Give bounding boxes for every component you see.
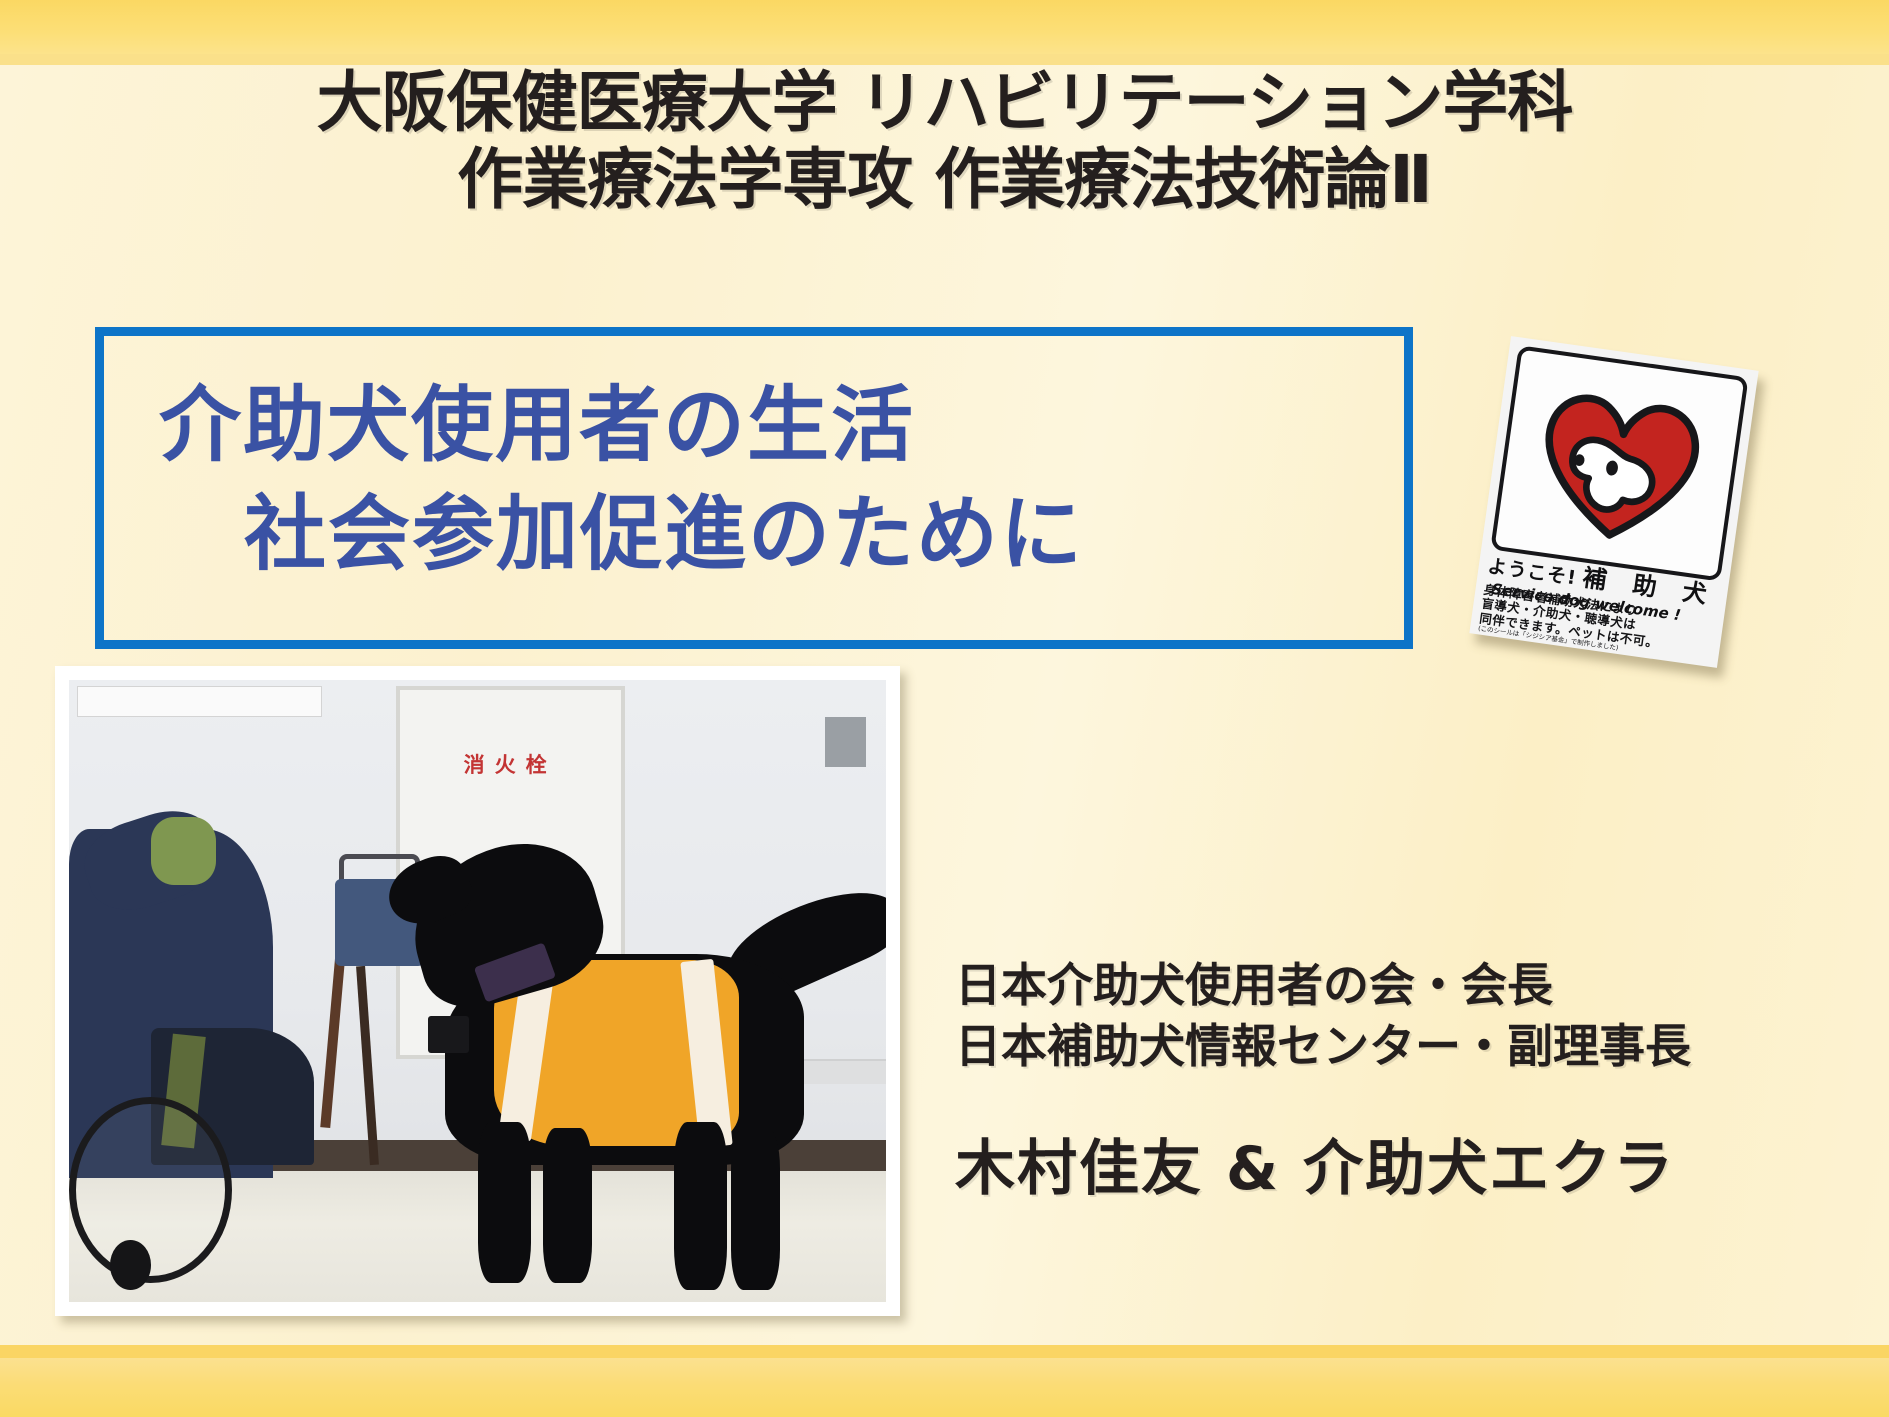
fire-hydrant-label: 消火栓 bbox=[400, 749, 621, 779]
header-line-2: 作業療法学専攻 作業療法技術論Ⅱ bbox=[0, 141, 1889, 218]
presenter-name: 木村佳友 & 介助犬エクラ bbox=[955, 1120, 1855, 1207]
photo-whiteboard bbox=[77, 686, 322, 717]
service-dog-welcome-sticker: ようこそ! 補 助 犬 Service dog welcome ! 身体障害者補… bbox=[1469, 336, 1758, 668]
photo-dog-leg-1 bbox=[478, 1122, 531, 1284]
photo-leash-clip bbox=[428, 1016, 469, 1053]
presenter-credits: 日本介助犬使用者の会・会長 日本補助犬情報センター・副理事長 木村佳友 & 介助… bbox=[955, 955, 1855, 1207]
top-decorative-band bbox=[0, 0, 1889, 54]
slide: 大阪保健医療大学 リハビリテーション学科 作業療法学専攻 作業療法技術論Ⅱ 介助… bbox=[0, 0, 1889, 1417]
service-dog-photo: 消火栓 bbox=[55, 666, 900, 1316]
photo-dog-leg-2 bbox=[543, 1128, 592, 1284]
main-title-line-2: 社会参加促進のために bbox=[244, 483, 1404, 588]
photo-wheelchair-castor bbox=[110, 1240, 151, 1290]
slide-header: 大阪保健医療大学 リハビリテーション学科 作業療法学専攻 作業療法技術論Ⅱ bbox=[0, 64, 1889, 218]
photo-user-hand bbox=[151, 817, 216, 885]
photo-content: 消火栓 bbox=[69, 680, 886, 1302]
credit-org-line-1: 日本介助犬使用者の会・会長 bbox=[955, 955, 1855, 1016]
main-title-box: 介助犬使用者の生活 社会参加促進のために bbox=[95, 327, 1413, 649]
credit-org-line-2: 日本補助犬情報センター・副理事長 bbox=[955, 1016, 1855, 1077]
bottom-decorative-band bbox=[0, 1358, 1889, 1417]
photo-dog-leg-3 bbox=[674, 1122, 727, 1290]
heart-dog-icon bbox=[1525, 381, 1712, 553]
header-line-1: 大阪保健医療大学 リハビリテーション学科 bbox=[0, 64, 1889, 141]
photo-dog-leg-4 bbox=[731, 1128, 780, 1290]
photo-wall-switch bbox=[825, 717, 866, 767]
main-title-line-1: 介助犬使用者の生活 bbox=[159, 374, 1404, 479]
photo-wheelchair-wheel bbox=[69, 1097, 232, 1284]
bottom-accent-line bbox=[0, 1345, 1889, 1358]
sticker-logo-panel bbox=[1490, 345, 1748, 581]
